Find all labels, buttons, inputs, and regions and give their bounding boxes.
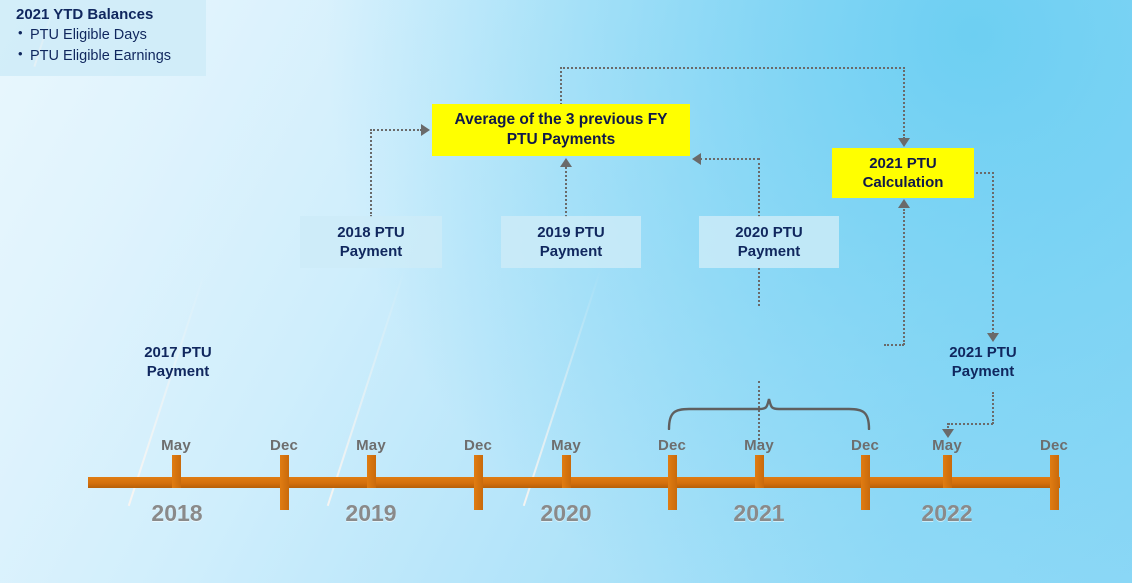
arrow-into-average-left [421, 124, 430, 136]
ytd-balances-box[interactable]: 2021 YTD Balances PTU Eligible Days PTU … [0, 0, 206, 76]
month-label: May [551, 437, 581, 454]
timeline-axis [88, 477, 1060, 488]
month-label: May [744, 437, 774, 454]
timeline-tick-may-2019 [367, 455, 376, 488]
payment-2021-right-line2: Payment [952, 362, 1015, 381]
connector-ytd-to-calculation-vertical [903, 209, 905, 345]
ytd-balances-item: PTU Eligible Days [30, 25, 196, 46]
payment-2021-right-line1: 2021 PTU [949, 343, 1017, 362]
connector-2020-to-average-horizontal [700, 158, 759, 160]
arrow-into-average-right [692, 153, 701, 165]
average-ptu-box[interactable]: Average of the 3 previous FY PTU Payment… [432, 104, 690, 156]
average-ptu-line2: PTU Payments [507, 130, 616, 150]
year-label-2019: 2019 [345, 500, 396, 527]
month-label: Dec [851, 437, 879, 454]
connector-calculation-to-payment-out [972, 172, 994, 174]
ytd-balances-item: PTU Eligible Earnings [30, 46, 196, 67]
month-label: Dec [1040, 437, 1068, 454]
average-ptu-line1: Average of the 3 previous FY [454, 110, 667, 130]
ytd-balances-list: PTU Eligible Days PTU Eligible Earnings [12, 25, 196, 66]
connector-2020-to-average-vertical [758, 158, 760, 217]
ytd-balances-title: 2021 YTD Balances [16, 6, 196, 23]
payment-2019-line1: 2019 PTU [537, 223, 605, 242]
year-label-2021: 2021 [733, 500, 784, 527]
payment-2021-right-label: 2021 PTU Payment [915, 336, 1051, 388]
payment-2018-line2: Payment [340, 242, 403, 261]
connector-2018-to-average-vertical [370, 129, 372, 217]
connector-average-to-calculation-up [560, 67, 562, 105]
connector-payment2021-down [992, 392, 994, 424]
arrow-into-calculation-bottom [898, 199, 910, 208]
connector-2019-to-average-vertical [565, 167, 567, 217]
connector-calculation-to-payment-down [992, 172, 994, 334]
month-label: Dec [658, 437, 686, 454]
timeline-tick-dec-2022 [1050, 455, 1059, 510]
month-label: Dec [270, 437, 298, 454]
timeline-tick-dec-2018 [280, 455, 289, 510]
connector-payment2021-left [948, 423, 993, 425]
payment-2020-line2: Payment [738, 242, 801, 261]
connector-ytd-to-calculation-horizontal [884, 344, 904, 346]
payment-2017-line2: Payment [147, 362, 210, 381]
connector-2018-to-average-horizontal [370, 129, 422, 131]
payment-2019-box[interactable]: 2019 PTU Payment [501, 216, 641, 268]
year-label-2020: 2020 [540, 500, 591, 527]
timeline-tick-dec-2021 [861, 455, 870, 510]
timeline-tick-may-2020 [562, 455, 571, 488]
month-label: May [161, 437, 191, 454]
payment-2017-line1: 2017 PTU [144, 343, 212, 362]
connector-average-to-calculation-across [560, 67, 905, 69]
brace-2021-period [666, 398, 872, 430]
month-label: May [932, 437, 962, 454]
month-label: May [356, 437, 386, 454]
timeline-tick-may-2022 [943, 455, 952, 488]
year-label-2022: 2022 [921, 500, 972, 527]
payment-2018-line1: 2018 PTU [337, 223, 405, 242]
calculation-2021-line1: 2021 PTU [869, 154, 937, 173]
payment-2019-line2: Payment [540, 242, 603, 261]
calculation-2021-line2: Calculation [863, 173, 944, 192]
timeline-tick-may-2021 [755, 455, 764, 488]
payment-2018-box[interactable]: 2018 PTU Payment [300, 216, 442, 268]
arrow-into-average-bottom [560, 158, 572, 167]
timeline-tick-dec-2020 [668, 455, 677, 510]
year-label-2018: 2018 [151, 500, 202, 527]
arrow-into-calculation-top [898, 138, 910, 147]
arrow-to-may-2022-tick [942, 429, 954, 438]
month-label: Dec [464, 437, 492, 454]
calculation-2021-box[interactable]: 2021 PTU Calculation [832, 148, 974, 198]
payment-2020-line1: 2020 PTU [735, 223, 803, 242]
connector-2020-to-ytd [758, 268, 760, 306]
timeline-tick-may-2018 [172, 455, 181, 488]
timeline-tick-dec-2019 [474, 455, 483, 510]
connector-average-to-calculation-down [903, 67, 905, 139]
payment-2017-label: 2017 PTU Payment [110, 336, 246, 388]
diagram-canvas: May Dec May Dec May Dec May Dec May Dec … [0, 0, 1132, 583]
payment-2020-box[interactable]: 2020 PTU Payment [699, 216, 839, 268]
